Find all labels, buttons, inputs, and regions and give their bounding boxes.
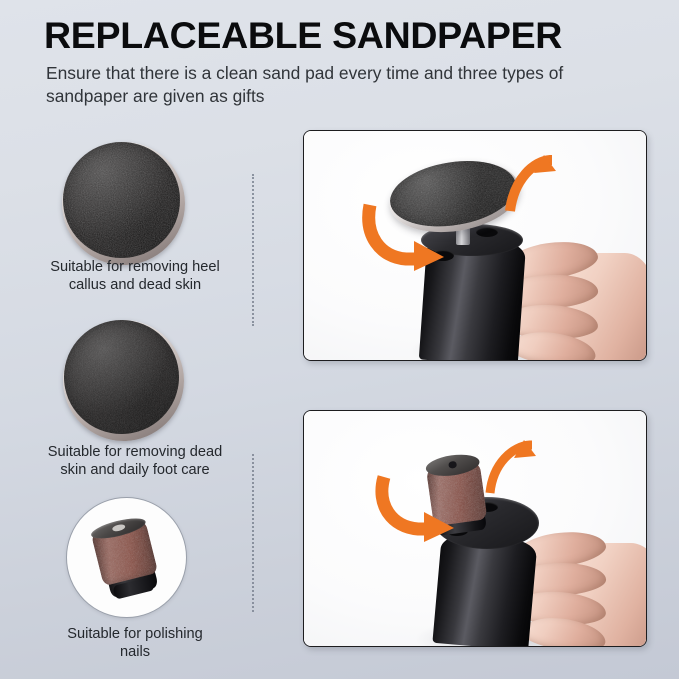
divider-upper bbox=[252, 174, 254, 326]
caption-line: nails bbox=[20, 643, 250, 661]
page-subtitle: Ensure that there is a clean sand pad ev… bbox=[46, 62, 631, 108]
caption-line: Suitable for removing heel bbox=[20, 258, 250, 276]
swatch-caption-roller: Suitable for polishing nails bbox=[20, 625, 250, 662]
photo-panel-roller-attachment bbox=[303, 410, 647, 647]
photo-stage bbox=[304, 411, 646, 646]
caption-line: callus and dead skin bbox=[20, 276, 250, 294]
rotate-on-arrow-icon bbox=[374, 473, 462, 543]
sanding-disc-coarse bbox=[62, 142, 185, 265]
page-title: REPLACEABLE SANDPAPER bbox=[44, 16, 644, 55]
grit-texture-icon bbox=[63, 142, 180, 258]
swatch-caption-coarse: Suitable for removing heel callus and de… bbox=[20, 258, 250, 295]
photo-stage bbox=[304, 131, 646, 360]
rotate-on-arrow-icon bbox=[362, 201, 452, 273]
roller-circle-frame bbox=[66, 497, 187, 618]
caption-line: Suitable for polishing bbox=[20, 625, 250, 643]
caption-line: Suitable for removing dead bbox=[20, 443, 250, 461]
caption-line: skin and daily foot care bbox=[20, 461, 250, 479]
sanding-disc-fine bbox=[63, 320, 184, 441]
disc-grit-surface bbox=[63, 142, 180, 258]
swatch-caption-fine: Suitable for removing dead skin and dail… bbox=[20, 443, 250, 480]
photo-panel-disc-attachment bbox=[303, 130, 647, 361]
divider-lower bbox=[252, 454, 254, 612]
polishing-roller bbox=[86, 514, 165, 605]
disc-grit-surface bbox=[64, 320, 179, 434]
grit-texture-icon bbox=[64, 320, 179, 434]
rotate-off-arrow-icon bbox=[500, 153, 564, 213]
device-barrel bbox=[432, 533, 537, 646]
device-head-hole-right bbox=[476, 227, 498, 237]
rotate-off-arrow-icon bbox=[480, 439, 544, 495]
infographic-root: REPLACEABLE SANDPAPER Ensure that there … bbox=[0, 0, 679, 679]
